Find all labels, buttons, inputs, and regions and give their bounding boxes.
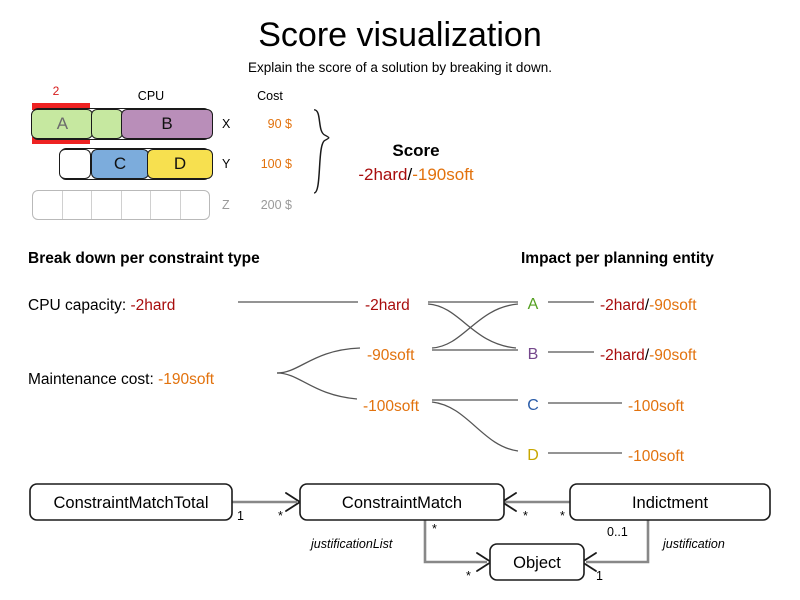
machine-row-x[interactable]: A B [32,108,210,140]
page-subtitle: Explain the score of a solution by break… [0,60,800,75]
breakdown-connectors [0,240,800,480]
process-a-label: A [57,114,68,134]
machine-z-slot [151,191,181,219]
cpu-column-header: CPU [128,89,174,103]
machine-row-y[interactable]: C D [60,148,210,180]
uml-mult-total-one: 1 [237,509,244,523]
process-b[interactable]: B [121,109,213,139]
uml-mult-object-many: * [466,569,471,583]
machine-z-slot [181,191,210,219]
overload-badge: 2 [44,84,68,98]
process-a[interactable]: A [31,109,93,139]
process-a-overflow[interactable] [91,109,123,139]
uml-role-justification-list: justificationList [309,537,393,551]
uml-mult-indictment-many-left: * [523,509,528,523]
machine-cost-x: 90 $ [240,117,292,131]
machine-y-empty-slot [59,149,91,179]
process-d-label: D [174,154,186,174]
uml-class-indictment-label: Indictment [632,494,709,512]
machine-row-z[interactable] [32,190,210,220]
uml-mult-total-many: * [278,509,283,523]
uml-mult-indictment-many-right: * [560,509,565,523]
machine-cost-y: 100 $ [240,157,292,171]
machine-z-slot [63,191,93,219]
machine-z-slot [33,191,63,219]
process-b-label: B [161,114,172,134]
machine-z-slot [122,191,152,219]
machine-name-x: X [222,117,236,131]
process-c-label: C [114,154,126,174]
machine-z-slot [92,191,122,219]
score-hard: -2hard [358,165,407,184]
process-d[interactable]: D [147,149,213,179]
machine-cost-z: 200 $ [240,198,292,212]
uml-class-constraintmatchtotal-label: ConstraintMatchTotal [54,494,209,512]
process-c[interactable]: C [91,149,149,179]
machine-name-z: Z [222,198,236,212]
uml-class-object-label: Object [513,554,561,572]
uml-mult-indictment-zero-one: 0..1 [607,525,628,539]
uml-class-diagram: ConstraintMatchTotal ConstraintMatch Ind… [0,470,800,600]
score-soft: -190soft [412,165,473,184]
uml-role-justification: justification [661,537,725,551]
score-value: -2hard/-190soft [318,165,514,185]
uml-mult-match-many: * [432,522,437,536]
uml-mult-object-one: 1 [596,569,603,583]
page-title: Score visualization [0,16,800,55]
cost-column-header: Cost [248,89,292,103]
machine-name-y: Y [222,157,236,171]
uml-class-constraintmatch-label: ConstraintMatch [342,494,462,512]
score-title: Score [330,141,502,161]
